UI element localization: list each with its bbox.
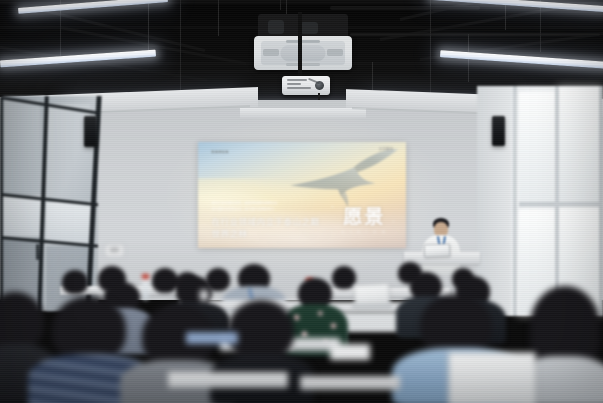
lamp-drop: [180, 0, 181, 100]
attendee-head: [62, 270, 88, 294]
slide-headline: 在行业领域内立于泰山之巅 世界之林: [212, 216, 333, 240]
blue-folder[interactable]: [186, 332, 238, 344]
glass-door-handle[interactable]: [36, 244, 39, 260]
lamp-drop: [540, 0, 541, 52]
attendee-head: [332, 266, 356, 289]
slide-big-title: 愿景: [343, 208, 385, 227]
attendee-laptop-base: [352, 304, 392, 309]
frosted-glass-band: [2, 196, 44, 236]
slide-big-title-group: “ 愿景 ” V I S I O N: [342, 208, 388, 234]
attendee-laptop[interactable]: [448, 352, 536, 403]
projector-mount-arm: [298, 12, 302, 78]
ac-mount-bracket: [300, 22, 318, 34]
lamp-drop: [280, 0, 281, 10]
slide-corner-badge: 大华股份: [379, 147, 394, 151]
presenter-laptop[interactable]: [424, 244, 450, 258]
quote-open-mark: “: [332, 206, 334, 212]
attendee-head: [228, 300, 294, 360]
slide-headline-line-2: 世界之林: [212, 228, 333, 240]
lamp-drop: [430, 0, 431, 96]
paper-stack[interactable]: [330, 344, 370, 360]
water-bottle[interactable]: [142, 278, 149, 300]
bottle-cap: [142, 274, 149, 279]
wall-sign: 消防: [105, 244, 124, 257]
ac-mount-bracket: [268, 20, 284, 34]
attendee-head: [530, 286, 600, 366]
ceiling-soffit-center: [240, 108, 366, 118]
slide-subtitle: 成为行业领域内领先、最值得信赖的品牌企业 成为国际化优秀企业，全力提升品牌影响力: [212, 201, 320, 213]
ceiling-projector: [282, 76, 330, 95]
attendee-head: [152, 268, 178, 293]
projection-screen: DAHUA 大华股份 成为行业领域内领先、最值得信赖的品牌企业 成为国际化优秀企…: [198, 142, 406, 248]
attendee-head: [52, 296, 126, 362]
window-blind[interactable]: [519, 92, 555, 204]
window-blind[interactable]: [559, 88, 601, 204]
wall-speaker-right: [492, 116, 505, 146]
paper-cup[interactable]: [200, 290, 208, 301]
wall-speaker-left: [84, 116, 97, 147]
attendee-head: [420, 294, 492, 356]
desk-front-row: [168, 372, 288, 388]
ac-cassette-unit: [254, 36, 352, 70]
slide-subtitle-line-2: 成为国际化优秀企业，全力提升品牌影响力: [212, 207, 320, 213]
frosted-glass-band: [46, 202, 92, 244]
desk-front-row: [300, 376, 400, 390]
slide-big-title-en: V I S I O N: [342, 230, 388, 234]
quote-close-mark: ”: [392, 221, 394, 227]
classroom-photo: 消防 DAHUA 大华股份 成为行业领域内领先、最值得信赖的品牌企业 成为国际化…: [0, 0, 603, 403]
slide-logo: DAHUA: [212, 149, 229, 154]
wall-sign-text: 消防: [109, 247, 119, 254]
slide-headline-line-1: 在行业领域内立于泰山之巅: [212, 216, 333, 228]
